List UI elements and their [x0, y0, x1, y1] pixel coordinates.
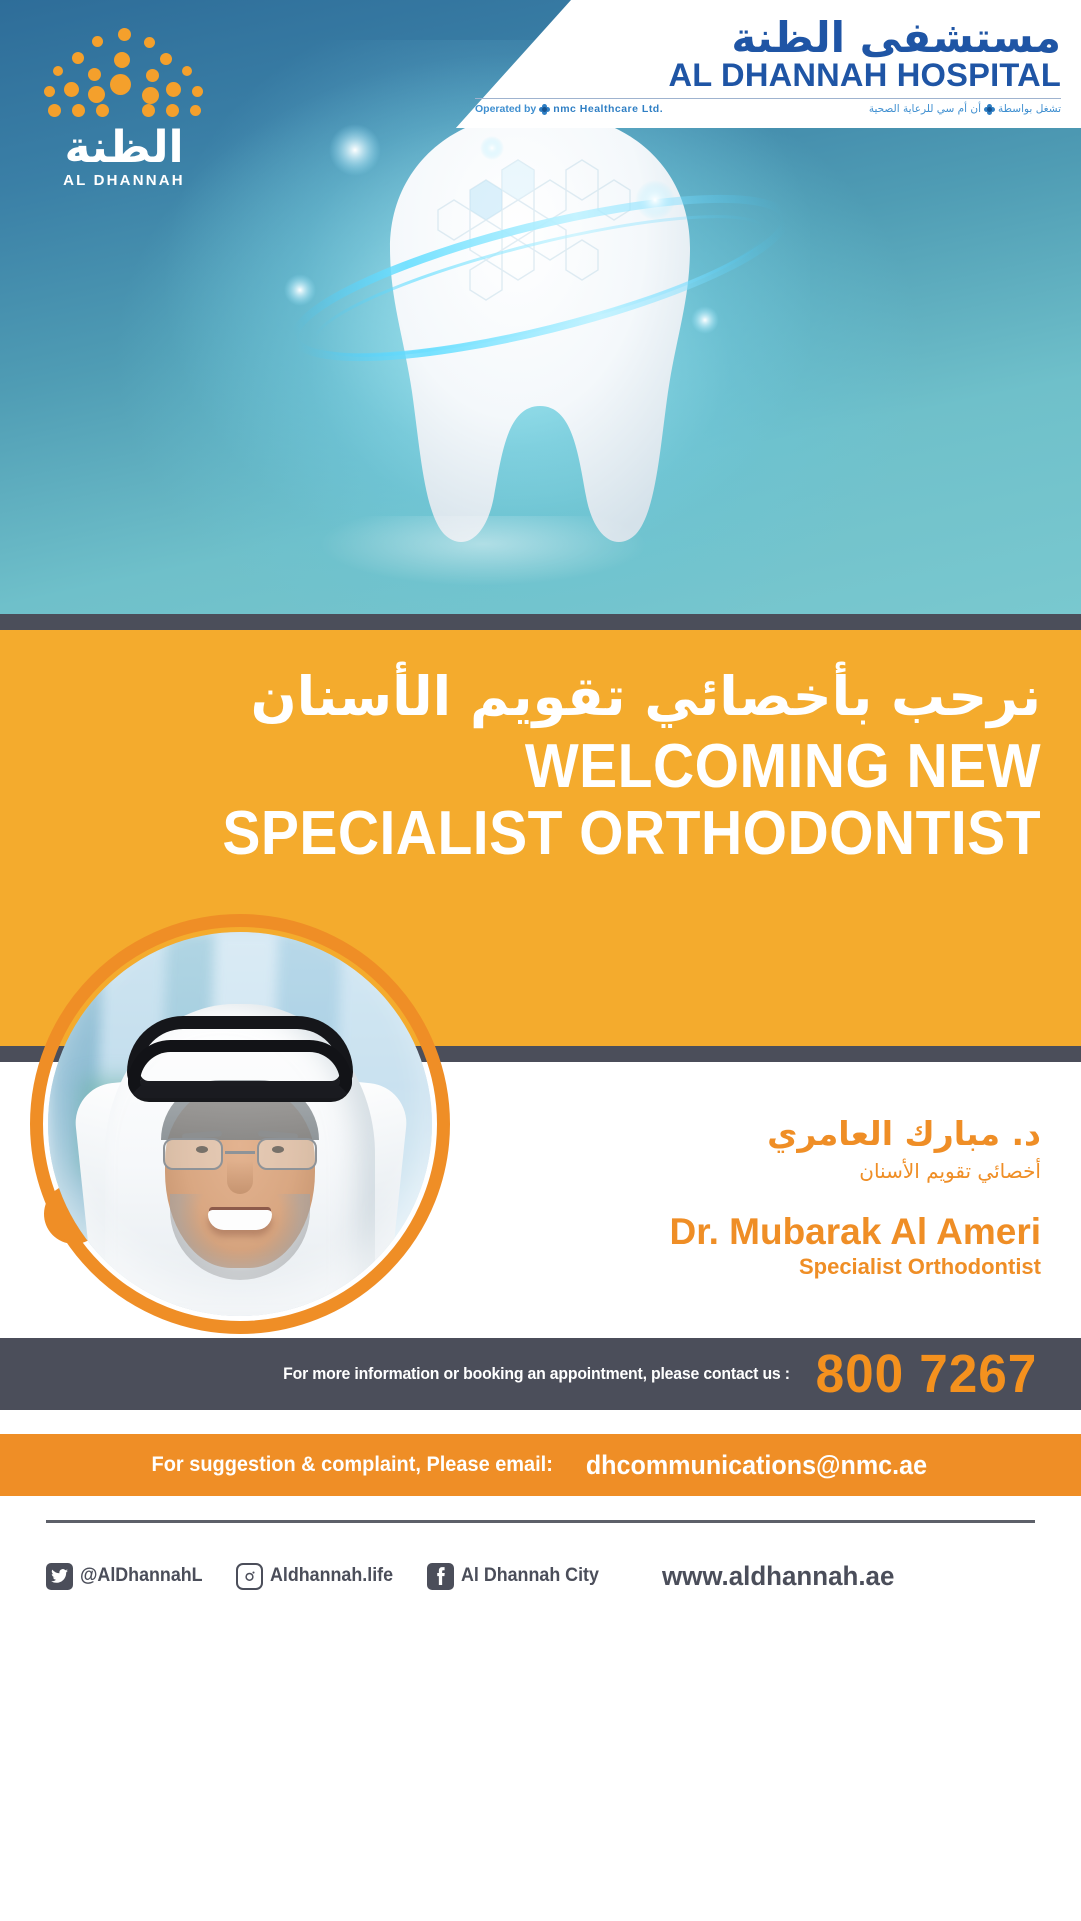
email-bar: For suggestion & complaint, Please email… — [0, 1434, 1081, 1496]
brand-name-latin: AL DHANNAH — [36, 172, 212, 189]
nmc-flower-icon-ar — [984, 104, 995, 115]
email-label: For suggestion & complaint, Please email… — [151, 1453, 552, 1477]
contact-label: For more information or booking an appoi… — [283, 1364, 790, 1384]
operator-line-en: Operated by nmc Healthcare Ltd. — [475, 103, 663, 115]
email-address[interactable]: dhcommunications@nmc.ae — [586, 1450, 927, 1481]
website-url[interactable]: www.aldhannah.ae — [662, 1561, 894, 1592]
al-dhannah-brand-logo: الظنة AL DHANNAH — [36, 24, 212, 189]
tooth-shape — [390, 112, 690, 542]
brand-name-arabic: الظنة — [36, 126, 212, 170]
social-instagram[interactable]: Aldhannah.life — [236, 1563, 401, 1590]
instagram-icon — [236, 1563, 263, 1590]
doctor-portrait — [48, 932, 432, 1316]
instagram-handle: Aldhannah.life — [270, 1565, 393, 1587]
footer: @AlDhannahL Aldhannah.life Al Dhannah Ci… — [0, 1536, 1081, 1616]
operated-by-label-ar: تشغل بواسطة — [998, 103, 1061, 115]
operated-by-label-en: Operated by — [475, 103, 536, 115]
operator-name-en: nmc Healthcare Ltd. — [553, 103, 663, 115]
hospital-logo: مستشفى الظنة AL DHANNAH HOSPITAL Operate… — [475, 16, 1061, 115]
facebook-icon — [427, 1563, 454, 1590]
hospital-name-arabic: مستشفى الظنة — [475, 16, 1061, 60]
hero-section: مستشفى الظنة AL DHANNAH HOSPITAL Operate… — [0, 0, 1081, 614]
footer-divider — [46, 1520, 1035, 1523]
contact-bar: For more information or booking an appoi… — [0, 1338, 1081, 1410]
headline-arabic: نرحب بأخصائي تقويم الأسنان — [41, 666, 1041, 728]
dot-arc-logo-icon — [36, 24, 212, 124]
tooth-reflection — [318, 516, 648, 586]
headline-english-line2: SPECIALIST ORTHODONTIST — [121, 801, 1041, 868]
doctor-photo-frame — [30, 914, 450, 1334]
doctor-name-english: Dr. Mubarak Al Ameri — [421, 1212, 1041, 1253]
poster: مستشفى الظنة AL DHANNAH HOSPITAL Operate… — [0, 0, 1081, 1921]
doctor-details: د. مبارك العامري أخصائي تقويم الأسنان Dr… — [421, 1114, 1041, 1281]
twitter-handle: @AlDhannahL — [80, 1565, 203, 1587]
headline-english-line1: WELCOMING NEW — [121, 734, 1041, 801]
doctor-name-arabic: د. مبارك العامري — [421, 1114, 1041, 1154]
twitter-icon — [46, 1563, 73, 1590]
divider-top — [0, 614, 1081, 630]
hospital-logo-rule — [475, 98, 1061, 99]
nmc-flower-icon — [539, 104, 550, 115]
social-facebook[interactable]: Al Dhannah City — [427, 1563, 608, 1590]
operator-line: Operated by nmc Healthcare Ltd. تشغل بوا… — [475, 103, 1061, 115]
social-twitter[interactable]: @AlDhannahL — [46, 1563, 210, 1590]
hospital-name-latin: AL DHANNAH HOSPITAL — [463, 58, 1061, 93]
doctor-title-english: Specialist Orthodontist — [421, 1254, 1041, 1280]
operator-name-ar: أن أم سي للرعاية الصحية — [869, 103, 981, 115]
headline-text: نرحب بأخصائي تقويم الأسنان WELCOMING NEW… — [41, 666, 1041, 868]
contact-phone-number[interactable]: 800 7267 — [815, 1347, 1037, 1401]
doctor-section: د. مبارك العامري أخصائي تقويم الأسنان Dr… — [0, 1062, 1081, 1338]
operator-line-ar: تشغل بواسطة أن أم سي للرعاية الصحية — [869, 103, 1061, 115]
facebook-handle: Al Dhannah City — [461, 1565, 599, 1587]
portrait-fade — [48, 932, 432, 1316]
doctor-title-arabic: أخصائي تقويم الأسنان — [421, 1156, 1041, 1186]
